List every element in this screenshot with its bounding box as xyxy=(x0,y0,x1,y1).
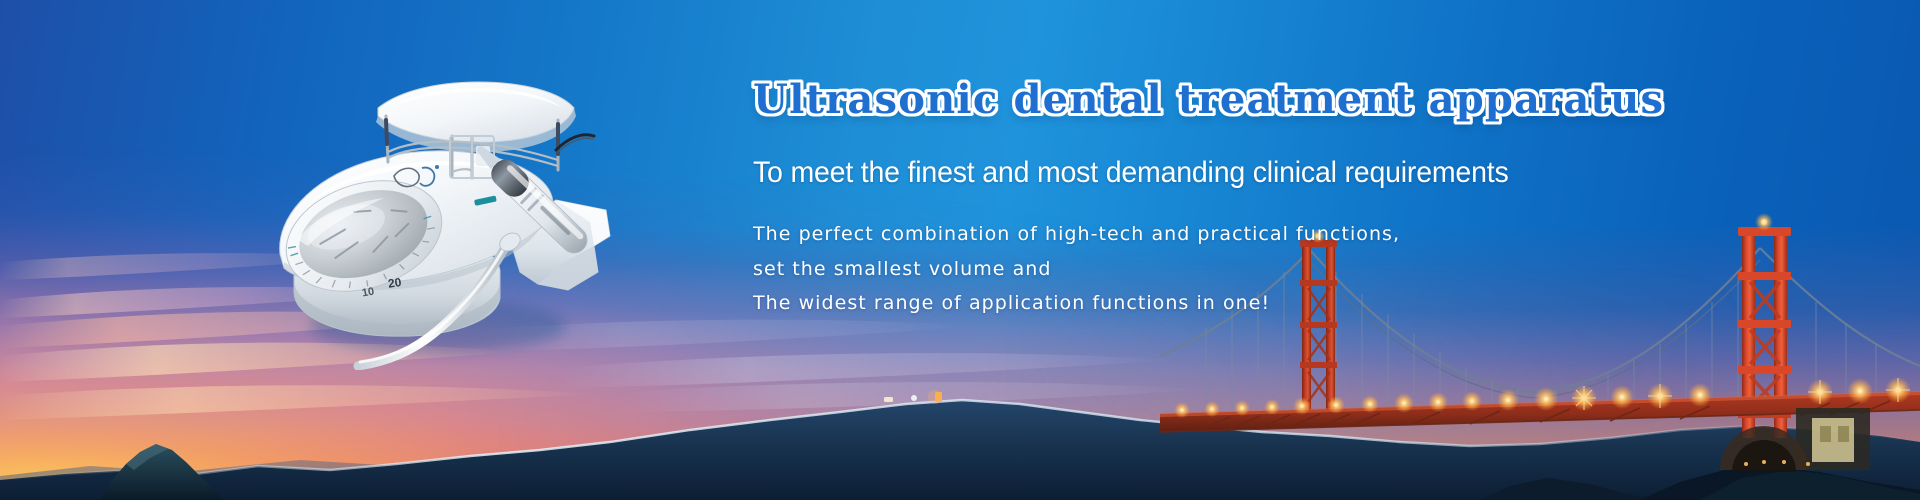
banner-subheadline: To meet the finest and most demanding cl… xyxy=(753,155,1608,191)
body-copy-line-1: The perfect combination of high-tech and… xyxy=(753,217,1653,252)
product-hero-banner: 10 20 xyxy=(0,0,1920,500)
banner-body-copy: The perfect combination of high-tech and… xyxy=(753,217,1653,321)
dial-tick-label-20: 20 xyxy=(387,275,402,291)
banner-headline: Ultrasonic dental treatment apparatus xyxy=(753,78,1653,121)
dial-tick-label-10: 10 xyxy=(361,286,375,300)
body-copy-line-3: The widest range of application function… xyxy=(753,286,1653,321)
product-image-ultrasonic-dental-scaler: 10 20 xyxy=(238,40,638,370)
ridge-lights xyxy=(884,390,942,404)
ultrasonic-scaler-illustration: 10 20 xyxy=(238,40,638,370)
scaler-tip xyxy=(556,135,594,150)
body-copy-line-2: set the smallest volume and xyxy=(753,252,1653,287)
banner-copy-block: Ultrasonic dental treatment apparatus To… xyxy=(753,78,1653,321)
